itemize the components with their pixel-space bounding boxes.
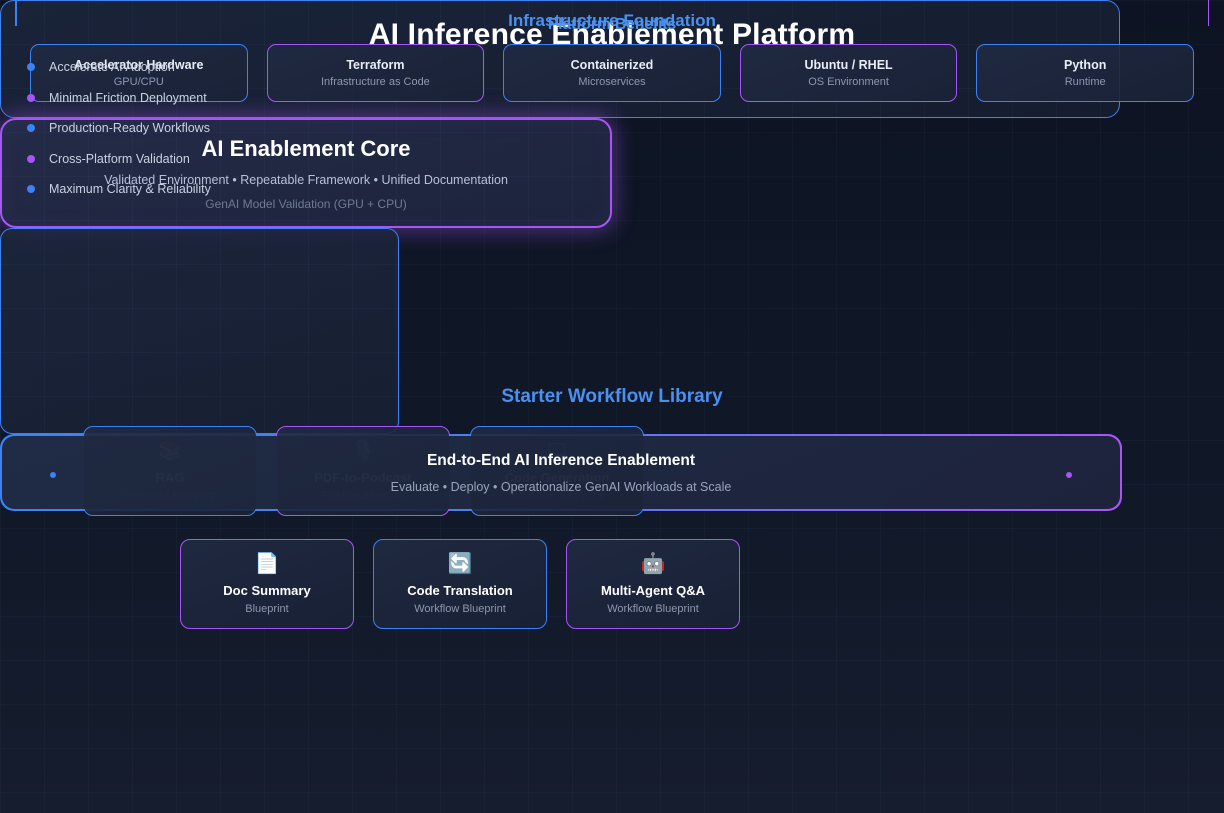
workflow-card-sub: Blueprint xyxy=(245,603,288,615)
workflow-card-doc-summary[interactable]: 📄 Doc Summary Blueprint xyxy=(180,539,354,629)
workflow-card-name: Doc Summary xyxy=(223,583,310,598)
workflow-card-code-translation[interactable]: 🔄 Code Translation Workflow Blueprint xyxy=(373,539,547,629)
benefit-label: Maximum Clarity & Reliability xyxy=(49,182,211,196)
benefit-label: Cross-Platform Validation xyxy=(49,152,190,166)
workflow-card-sub: Workflow Blueprint xyxy=(607,603,699,615)
benefit-label: Minimal Friction Deployment xyxy=(49,91,207,105)
banner-dot-right-icon xyxy=(1066,472,1072,478)
platform-diagram: AI Inference Enablement Platform Infrast… xyxy=(0,0,1224,813)
benefit-item-accelerate-ai-adoption: Accelerate AI Adoption xyxy=(27,52,1206,83)
workflow-card-name: Multi-Agent Q&A xyxy=(601,583,705,598)
bullet-dot-icon xyxy=(27,124,35,132)
benefit-label: Production-Ready Workflows xyxy=(49,121,210,135)
bullet-dot-icon xyxy=(27,94,35,102)
benefit-item-minimal-friction-deployment: Minimal Friction Deployment xyxy=(27,83,1206,114)
refresh-arrows-icon: 🔄 xyxy=(448,554,473,574)
bullet-dot-icon xyxy=(27,63,35,71)
end-to-end-banner: End-to-End AI Inference Enablement Evalu… xyxy=(0,434,1122,511)
bullet-dot-icon xyxy=(27,155,35,163)
workflow-card-name: Code Translation xyxy=(407,583,512,598)
end-to-end-banner-inner: End-to-End AI Inference Enablement Evalu… xyxy=(2,436,1121,510)
benefits-title: Platform Benefits xyxy=(0,16,1224,34)
workflow-card-sub: Workflow Blueprint xyxy=(414,603,506,615)
workflow-library-heading: Starter Workflow Library xyxy=(0,386,1224,408)
benefits-list: Accelerate AI Adoption Minimal Friction … xyxy=(27,52,1206,205)
footer-subtitle: Evaluate • Deploy • Operationalize GenAI… xyxy=(391,480,732,494)
banner-dot-left-icon xyxy=(50,472,56,478)
document-icon: 📄 xyxy=(255,554,280,574)
benefit-item-maximum-clarity-reliability: Maximum Clarity & Reliability xyxy=(27,174,1206,205)
bullet-dot-icon xyxy=(27,185,35,193)
benefit-item-production-ready-workflows: Production-Ready Workflows xyxy=(27,113,1206,144)
workflow-card-multi-agent-qa[interactable]: 🤖 Multi-Agent Q&A Workflow Blueprint xyxy=(566,539,740,629)
robot-icon: 🤖 xyxy=(641,554,666,574)
footer-title: End-to-End AI Inference Enablement xyxy=(427,452,695,470)
benefit-item-cross-platform-validation: Cross-Platform Validation xyxy=(27,144,1206,175)
benefit-label: Accelerate AI Adoption xyxy=(49,60,175,74)
